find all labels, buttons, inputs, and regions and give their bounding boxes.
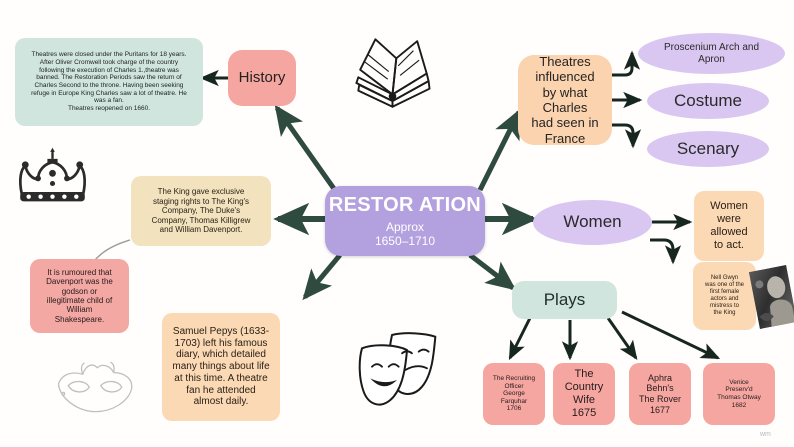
note-nell-gwyn-text: Nell Gwyn was one of the first female ac… bbox=[705, 275, 744, 317]
connector-plays-recruiting bbox=[510, 318, 530, 358]
note-samuel-pepys-text: Samuel Pepys (1633- 1703) left his famou… bbox=[172, 326, 269, 409]
play-card-country-wife-label: The Country Wife 1675 bbox=[565, 368, 604, 420]
connector-plays-rover bbox=[608, 318, 636, 358]
branch-history[interactable]: History bbox=[228, 50, 296, 106]
watermark: wm bbox=[760, 431, 771, 438]
theatre-masks-illustration bbox=[352, 330, 452, 410]
branch-france-label: Theatres influenced by what Charles had … bbox=[531, 54, 598, 146]
branch-history-label: History bbox=[239, 69, 286, 87]
note-king-staging-rights-text: The King gave exclusive staging rights t… bbox=[152, 187, 251, 234]
note-women-allowed-text: Women were allowed to act. bbox=[710, 200, 748, 252]
connector-central-france bbox=[480, 112, 519, 190]
child-costume[interactable]: Costume bbox=[647, 83, 769, 119]
note-davenport[interactable]: It is rumoured that Davenport was the go… bbox=[30, 259, 129, 333]
child-proscenium-arch[interactable]: Proscenium Arch and Apron bbox=[638, 33, 785, 74]
branch-women[interactable]: Women bbox=[533, 200, 652, 245]
connector-central-history bbox=[277, 108, 337, 193]
central-node-title: RESTOR ATION bbox=[329, 194, 481, 218]
central-node-subtitle: Approx 1650–1710 bbox=[375, 220, 435, 248]
connector-france-scenary bbox=[612, 125, 633, 146]
branch-plays[interactable]: Plays bbox=[512, 281, 617, 319]
central-node[interactable]: RESTOR ATION Approx 1650–1710 bbox=[325, 186, 485, 256]
note-king-staging-rights[interactable]: The King gave exclusive staging rights t… bbox=[131, 176, 271, 246]
connector-france-proscenium bbox=[612, 53, 632, 75]
note-history[interactable]: Theatres were closed under the Puritans … bbox=[15, 38, 203, 126]
child-scenary-label: Scenary bbox=[677, 139, 739, 159]
play-card-the-rover[interactable]: Aphra Behn's The Rover 1677 bbox=[629, 363, 691, 425]
play-card-recruiting-officer[interactable]: The Recruiting Officer George Farquhar 1… bbox=[483, 363, 545, 425]
crown-illustration bbox=[10, 145, 95, 205]
child-costume-label: Costume bbox=[674, 91, 742, 111]
branch-women-label: Women bbox=[563, 212, 621, 232]
child-scenary[interactable]: Scenary bbox=[647, 131, 769, 167]
play-card-venice-preservd[interactable]: Venice Preserv'd Thomas Otway 1682 bbox=[703, 363, 775, 425]
note-history-text: Theatres were closed under the Puritans … bbox=[31, 51, 187, 112]
open-book-illustration bbox=[345, 26, 440, 121]
mindmap-canvas: RESTOR ATION Approx 1650–1710 History Th… bbox=[0, 0, 794, 447]
connector-central-pepys bbox=[305, 255, 340, 297]
play-card-venice-preservd-label: Venice Preserv'd Thomas Otway 1682 bbox=[717, 379, 761, 410]
branch-plays-label: Plays bbox=[544, 290, 586, 310]
venetian-mask-illustration bbox=[50, 358, 140, 423]
note-nell-gwyn[interactable]: Nell Gwyn was one of the first female ac… bbox=[693, 262, 756, 330]
child-proscenium-arch-label: Proscenium Arch and Apron bbox=[664, 42, 759, 66]
play-card-country-wife[interactable]: The Country Wife 1675 bbox=[553, 363, 615, 425]
play-card-recruiting-officer-label: The Recruiting Officer George Farquhar 1… bbox=[493, 375, 535, 413]
branch-france[interactable]: Theatres influenced by what Charles had … bbox=[518, 55, 612, 145]
play-card-the-rover-label: Aphra Behn's The Rover 1677 bbox=[639, 373, 681, 415]
note-women-allowed[interactable]: Women were allowed to act. bbox=[694, 191, 764, 261]
connector-women-nellgwyn bbox=[650, 240, 673, 262]
note-davenport-text: It is rumoured that Davenport was the go… bbox=[46, 268, 113, 325]
connector-central-plays bbox=[470, 255, 513, 288]
note-samuel-pepys[interactable]: Samuel Pepys (1633- 1703) left his famou… bbox=[162, 313, 280, 421]
